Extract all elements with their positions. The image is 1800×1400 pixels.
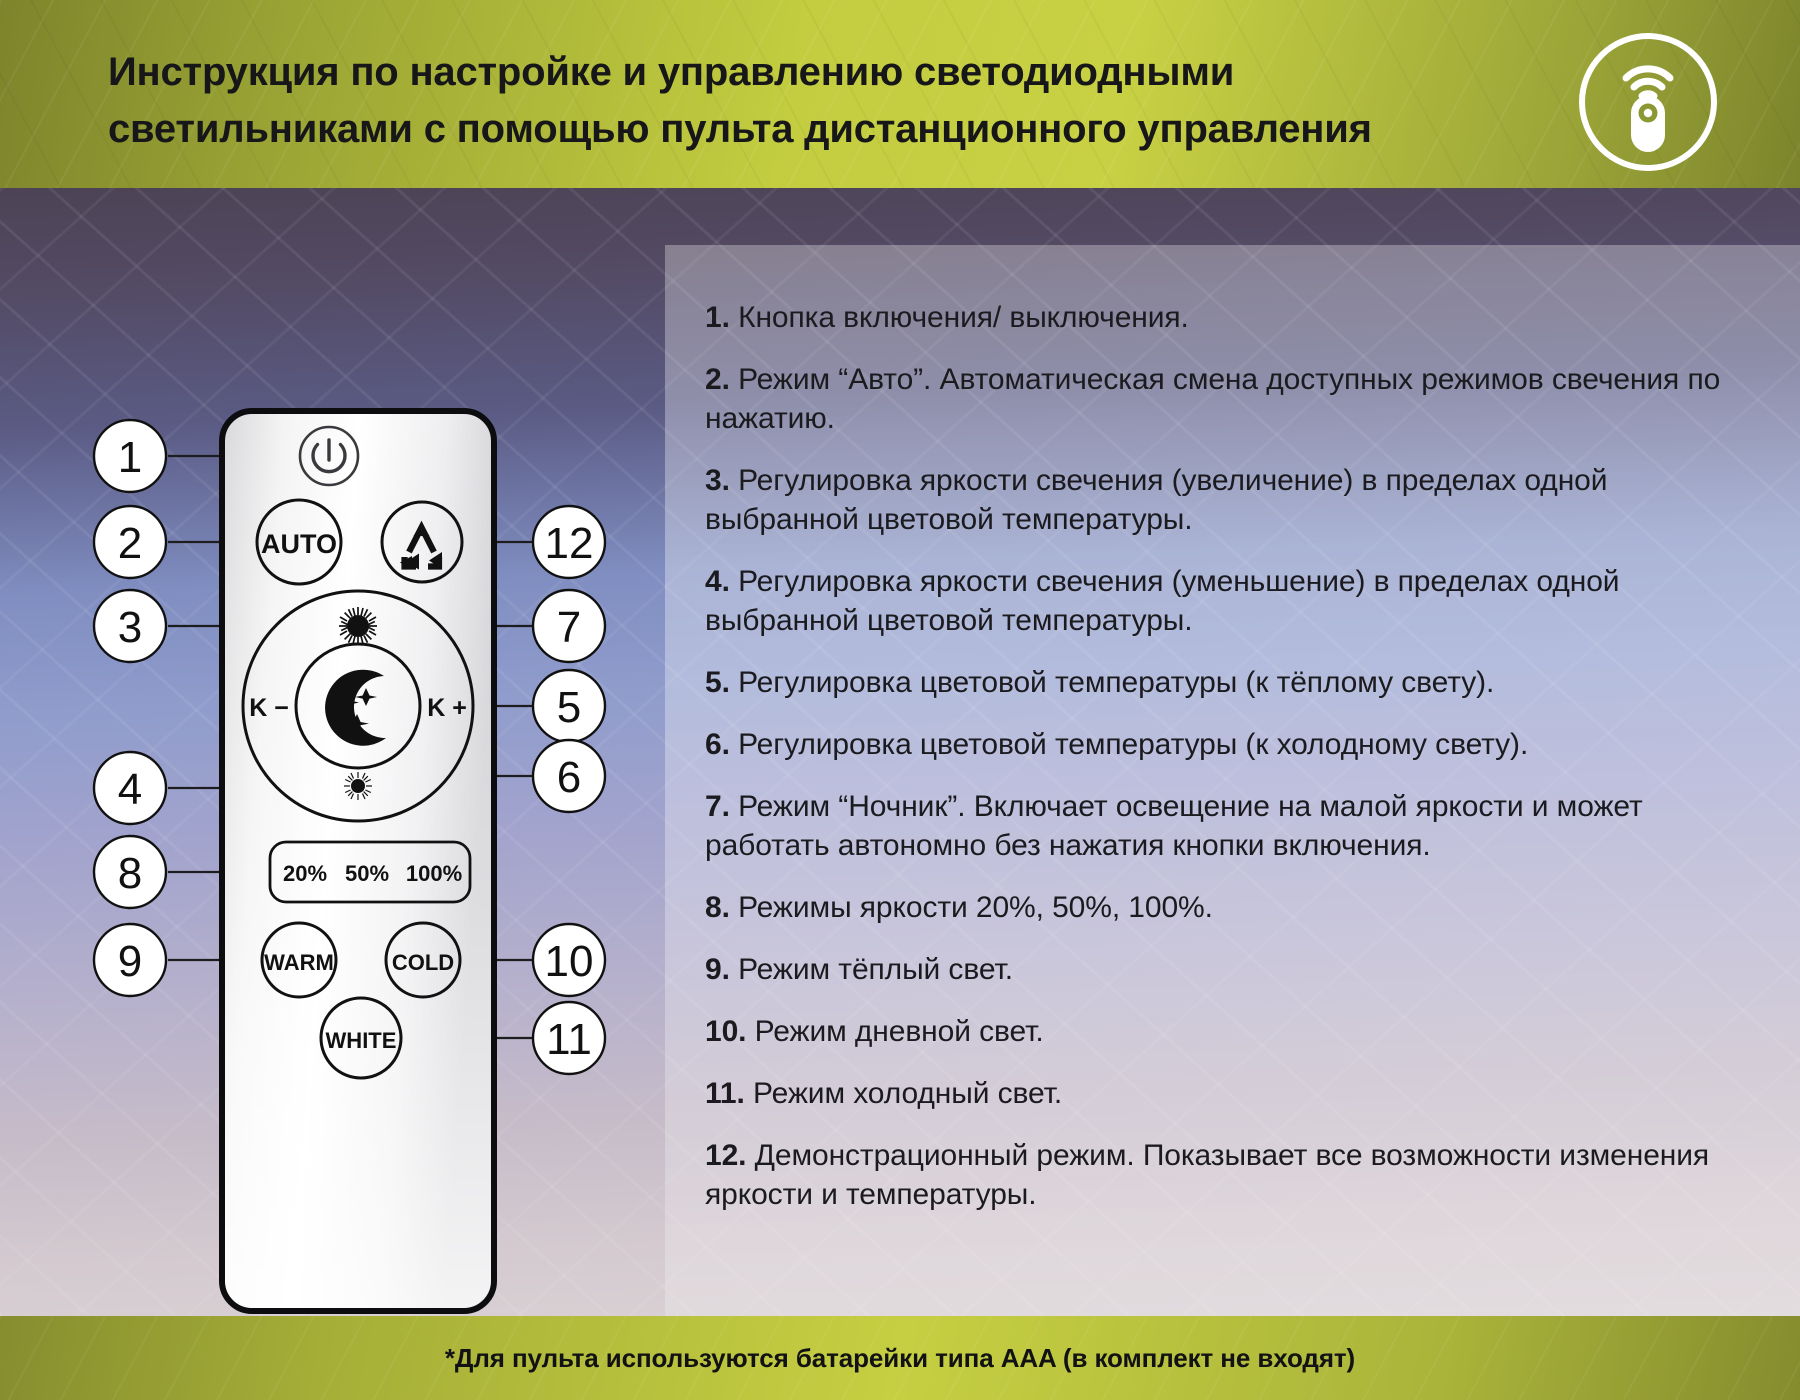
- list-item: 8. Режимы яркости 20%, 50%, 100%.: [705, 888, 1745, 927]
- list-item: 3. Регулировка яркости свечения (увеличе…: [705, 461, 1745, 539]
- remote-diagram: AUTO: [0, 376, 700, 1316]
- page-footer: *Для пульта используются батарейки типа …: [0, 1316, 1800, 1400]
- callout-4[interactable]: 4: [94, 752, 166, 824]
- list-item: 11. Режим холодный свет.: [705, 1074, 1745, 1113]
- sun-dim-icon: [344, 772, 372, 800]
- brightness-20-label[interactable]: 20%: [283, 861, 327, 886]
- item-text: Регулировка яркости свечения (уменьшение…: [705, 565, 1619, 637]
- item-number: 9.: [705, 953, 730, 986]
- list-item: 5. Регулировка цветовой температуры (к т…: [705, 663, 1745, 702]
- callout-12[interactable]: 12: [533, 506, 605, 578]
- list-item: 10. Режим дневной свет.: [705, 1012, 1745, 1051]
- infographic-page: Инструкция по настройке и управлению све…: [0, 0, 1800, 1400]
- callout-2[interactable]: 2: [94, 506, 166, 578]
- callout-11-number: 11: [546, 1015, 592, 1064]
- page-header: Инструкция по настройке и управлению све…: [0, 0, 1800, 208]
- warm-button-label: WARM: [264, 950, 334, 975]
- list-item: 2. Режим “Авто”. Автоматическая смена до…: [705, 360, 1745, 438]
- item-number: 4.: [705, 565, 730, 598]
- callout-3-number: 3: [118, 603, 142, 652]
- item-number: 2.: [705, 363, 730, 396]
- item-text: Регулировка яркости свечения (увеличение…: [705, 464, 1607, 536]
- item-text: Регулировка цветовой температуры (к тёпл…: [738, 666, 1494, 699]
- item-number: 6.: [705, 728, 730, 761]
- callout-8[interactable]: 8: [94, 836, 166, 908]
- item-text: Режимы яркости 20%, 50%, 100%.: [738, 891, 1213, 924]
- list-item: 6. Регулировка цветовой температуры (к х…: [705, 725, 1745, 764]
- footer-note: *Для пульта используются батарейки типа …: [445, 1343, 1355, 1374]
- list-item: 1. Кнопка включения/ выключения.: [705, 298, 1745, 337]
- page-title-line-2: светильниками с помощью пульта дистанцио…: [108, 101, 1488, 158]
- item-text: Режим “Ночник”. Включает освещение на ма…: [705, 790, 1643, 862]
- sun-bright-icon: [339, 607, 377, 645]
- callout-1[interactable]: 1: [94, 420, 166, 492]
- remote-control-signal-icon: [1574, 28, 1722, 176]
- list-item: 12. Демонстрационный режим. Показывает в…: [705, 1136, 1745, 1214]
- callout-2-number: 2: [118, 519, 142, 568]
- list-item: 9. Режим тёплый свет.: [705, 950, 1745, 989]
- page-title: Инструкция по настройке и управлению све…: [108, 44, 1488, 158]
- item-number: 5.: [705, 666, 730, 699]
- callout-9[interactable]: 9: [94, 924, 166, 996]
- kelvin-plus-label[interactable]: K +: [427, 694, 467, 722]
- callout-8-number: 8: [118, 849, 142, 898]
- callout-11[interactable]: 11: [533, 1002, 605, 1074]
- item-number: 1.: [705, 301, 730, 334]
- brightness-100-label[interactable]: 100%: [406, 861, 462, 886]
- callout-5[interactable]: 5: [533, 670, 605, 742]
- page-title-line-1: Инструкция по настройке и управлению све…: [108, 44, 1488, 101]
- list-item: 4. Регулировка яркости свечения (уменьше…: [705, 562, 1745, 640]
- callout-6-number: 6: [557, 753, 581, 802]
- cold-button-label: COLD: [392, 950, 454, 975]
- callout-9-number: 9: [118, 937, 142, 986]
- callout-7[interactable]: 7: [533, 590, 605, 662]
- item-text: Режим тёплый свет.: [738, 953, 1013, 986]
- item-text: Режим холодный свет.: [753, 1077, 1062, 1110]
- item-number: 12.: [705, 1139, 746, 1172]
- brightness-50-label[interactable]: 50%: [345, 861, 389, 886]
- callout-5-number: 5: [557, 683, 581, 732]
- item-number: 10.: [705, 1015, 746, 1048]
- instruction-list: 1. Кнопка включения/ выключения. 2. Режи…: [705, 298, 1745, 1237]
- list-item: 7. Режим “Ночник”. Включает освещение на…: [705, 787, 1745, 865]
- item-number: 7.: [705, 790, 730, 823]
- item-text: Режим “Авто”. Автоматическая смена досту…: [705, 363, 1720, 435]
- item-text: Режим дневной свет.: [755, 1015, 1044, 1048]
- callout-12-number: 12: [545, 519, 594, 568]
- item-number: 11.: [705, 1077, 745, 1110]
- callout-10-number: 10: [545, 937, 594, 986]
- item-number: 8.: [705, 891, 730, 924]
- callout-6[interactable]: 6: [533, 740, 605, 812]
- auto-button-label: AUTO: [261, 529, 337, 559]
- item-text: Демонстрационный режим. Показывает все в…: [705, 1139, 1709, 1211]
- content-area: AUTO: [0, 188, 1800, 1316]
- item-number: 3.: [705, 464, 730, 497]
- callout-10[interactable]: 10: [533, 924, 605, 996]
- white-button-label: WHITE: [326, 1028, 397, 1053]
- item-text: Кнопка включения/ выключения.: [738, 301, 1189, 334]
- callout-1-number: 1: [118, 433, 142, 482]
- callout-4-number: 4: [118, 765, 142, 814]
- callout-3[interactable]: 3: [94, 590, 166, 662]
- callout-7-number: 7: [557, 603, 581, 652]
- item-text: Регулировка цветовой температуры (к холо…: [738, 728, 1528, 761]
- kelvin-minus-label[interactable]: K −: [249, 694, 289, 722]
